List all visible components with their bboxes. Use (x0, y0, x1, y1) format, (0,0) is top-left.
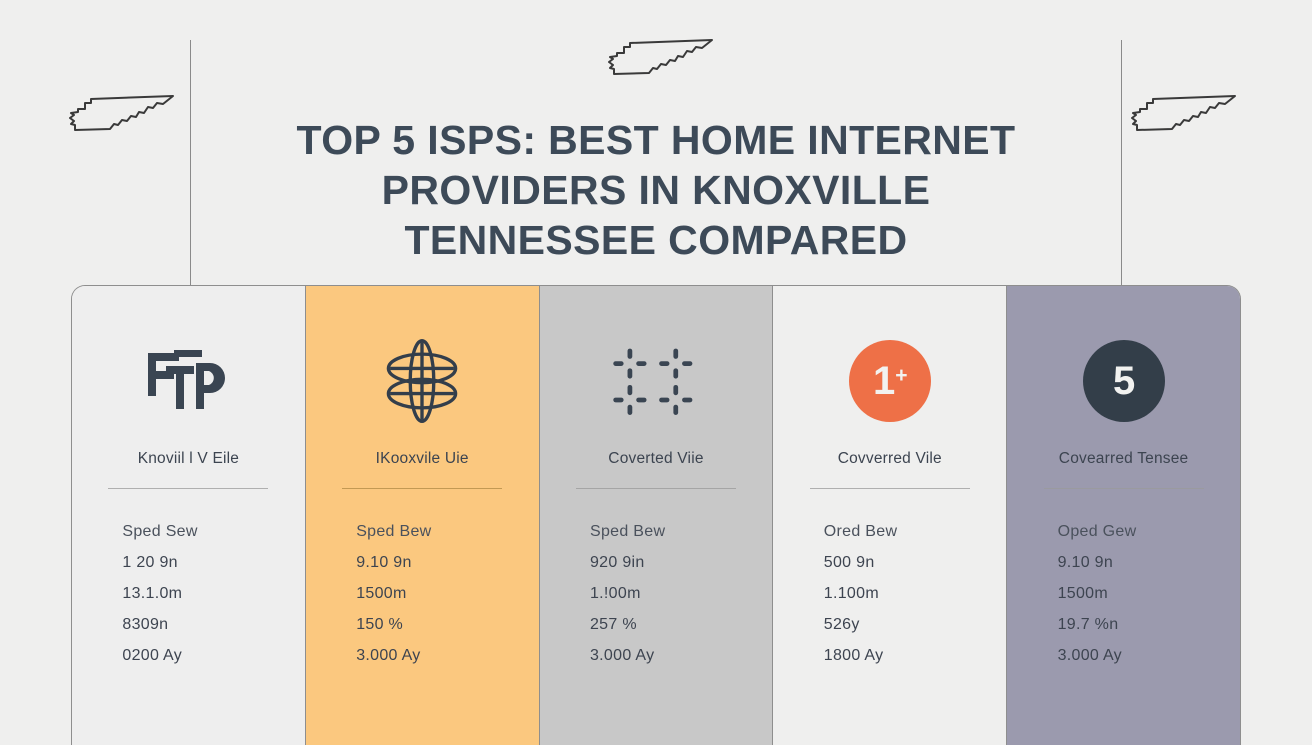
stat-list: Ored Bew 500 9n 1.100m 526y 1800 Ay (810, 523, 970, 665)
page-title: TOP 5 ISPS: BEST HOME INTERNET PROVIDERS… (0, 115, 1312, 265)
stat-row: 150 % (356, 616, 403, 634)
ftp-monogram-logo-icon (144, 338, 232, 424)
provider-name: Covearred Tensee (1059, 450, 1189, 468)
stat-row: 257 % (590, 616, 637, 634)
divider (342, 488, 502, 489)
four-crosshair-dots-icon (608, 338, 704, 424)
title-line-3: TENNESSEE COMPARED (0, 215, 1312, 265)
divider (576, 488, 736, 489)
stat-row: 13.1.0m (122, 585, 182, 603)
isp-card-4[interactable]: 1 + Covverred Vile Ored Bew 500 9n 1.100… (773, 286, 1007, 745)
divider (1044, 488, 1204, 489)
stat-list: Sped Bew 920 9in 1.!00m 257 % 3.000 Ay (576, 523, 736, 665)
stat-row: 1800 Ay (824, 647, 884, 665)
rank-number: 1 (873, 359, 894, 404)
provider-name: Coverted Viie (608, 450, 703, 468)
stat-row: Oped Gew (1058, 523, 1137, 541)
isp-card-3[interactable]: Coverted Viie Sped Bew 920 9in 1.!00m 25… (540, 286, 774, 745)
divider (810, 488, 970, 489)
provider-name: Covverred Vile (838, 450, 942, 468)
stat-list: Sped Bew 9.10 9n 1500m 150 % 3.000 Ay (342, 523, 502, 665)
isp-card-1[interactable]: Knoviil l V Eile Sped Sew 1 20 9n 13.1.0… (72, 286, 306, 745)
stat-row: 1.!00m (590, 585, 641, 603)
stat-row: 8309n (122, 616, 168, 634)
stat-row: 0200 Ay (122, 647, 182, 665)
stat-row: 526y (824, 616, 860, 634)
rank-badge-one-plus-icon: 1 + (849, 338, 931, 424)
stat-row: 1.100m (824, 585, 879, 603)
tennessee-state-outline-top (606, 36, 718, 92)
rank-badge-five-icon: 5 (1083, 338, 1165, 424)
stat-row: 500 9n (824, 554, 875, 572)
stat-row: 3.000 Ay (590, 647, 654, 665)
stat-row: Ored Bew (824, 523, 898, 541)
divider (108, 488, 268, 489)
stat-row: 19.7 %n (1058, 616, 1119, 634)
provider-name: IKooxvile Uie (376, 450, 469, 468)
stat-row: Sped Bew (590, 523, 665, 541)
rank-number: 5 (1113, 359, 1134, 404)
stat-row: Sped Bew (356, 523, 431, 541)
stat-list: Sped Sew 1 20 9n 13.1.0m 8309n 0200 Ay (108, 523, 268, 665)
stat-row: 3.000 Ay (1058, 647, 1122, 665)
isp-card-5[interactable]: 5 Covearred Tensee Oped Gew 9.10 9n 1500… (1007, 286, 1240, 745)
stat-list: Oped Gew 9.10 9n 1500m 19.7 %n 3.000 Ay (1044, 523, 1204, 665)
rank-plus-sign: + (895, 364, 906, 388)
stat-row: 3.000 Ay (356, 647, 420, 665)
stat-row: 920 9in (590, 554, 645, 572)
stat-row: 9.10 9n (356, 554, 411, 572)
provider-name: Knoviil l V Eile (138, 450, 239, 468)
isp-card-2[interactable]: IKooxvile Uie Sped Bew 9.10 9n 1500m 150… (306, 286, 540, 745)
stat-row: 1500m (1058, 585, 1108, 603)
stat-row: 1 20 9n (122, 554, 177, 572)
stat-row: 9.10 9n (1058, 554, 1113, 572)
stat-row: 1500m (356, 585, 406, 603)
title-line-1: TOP 5 ISPS: BEST HOME INTERNET (0, 115, 1312, 165)
title-line-2: PROVIDERS IN KNOXVILLE (0, 165, 1312, 215)
isp-comparison-strip: Knoviil l V Eile Sped Sew 1 20 9n 13.1.0… (71, 285, 1241, 745)
stat-row: Sped Sew (122, 523, 197, 541)
globe-atom-icon (380, 338, 464, 424)
